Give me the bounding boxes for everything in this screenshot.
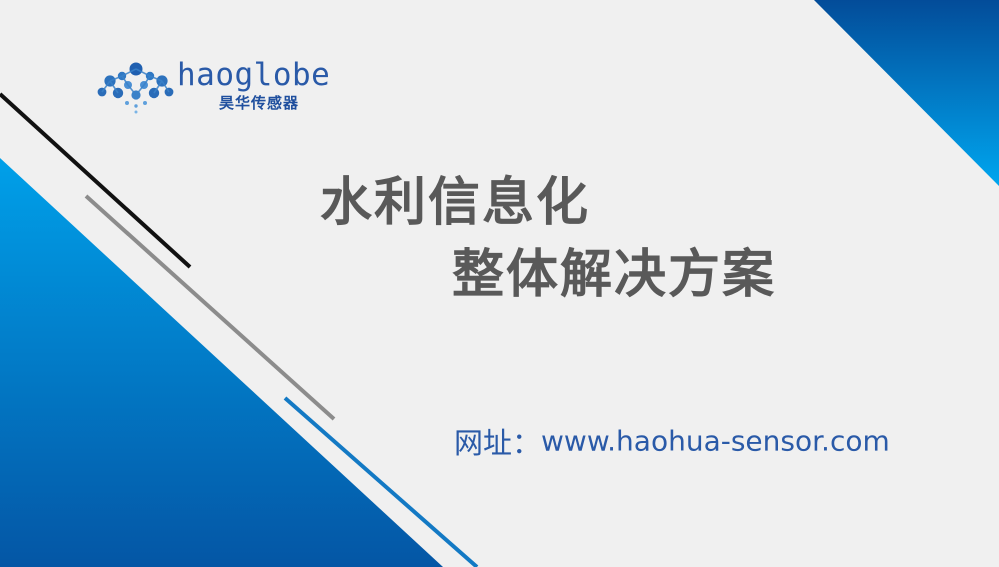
brand-logo: haoglobe 昊华传感器 bbox=[97, 58, 322, 120]
logo-sub-wordmark: 昊华传感器 bbox=[219, 96, 299, 111]
website-url[interactable]: www.haohua-sensor.com bbox=[541, 425, 890, 458]
molecule-network-icon bbox=[97, 62, 175, 114]
title-line-1: 水利信息化 bbox=[320, 168, 880, 240]
website-label: 网址： bbox=[454, 426, 541, 460]
slide-canvas: haoglobe 昊华传感器 水利信息化 整体解决方案 网址：www.haohu… bbox=[0, 0, 999, 567]
logo-wordmark: haoglobe bbox=[177, 60, 330, 91]
website-line: 网址：www.haohua-sensor.com bbox=[454, 420, 890, 462]
right-blue-triangle bbox=[814, 0, 999, 186]
title-line-2: 整体解决方案 bbox=[320, 240, 880, 312]
page-title: 水利信息化 整体解决方案 bbox=[320, 168, 880, 312]
